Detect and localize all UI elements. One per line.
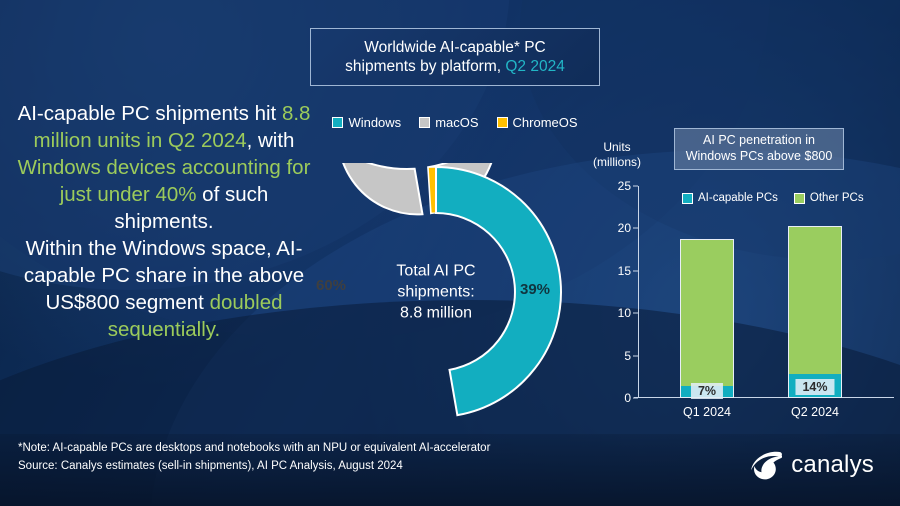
bar-chart-header-line1: AI PC penetration in: [703, 133, 815, 147]
legend-swatch-macos-icon: [419, 117, 430, 128]
y-tick-label-10: 10: [618, 306, 631, 320]
y-tick-mark-5: [633, 355, 638, 356]
chart-title-line2: shipments by platform,: [345, 58, 505, 75]
bar-chart-panel: AI PC penetration in Windows PCs above $…: [586, 128, 896, 428]
slide-canvas: Worldwide AI-capable* PC shipments by pl…: [0, 0, 900, 506]
chart-title-line1: Worldwide AI-capable* PC: [364, 39, 546, 56]
bar-q2-segment-other: [789, 227, 841, 374]
y-tick-mark-10: [633, 313, 638, 314]
y-axis-title-line1: Units: [586, 140, 648, 155]
narrative-p1-c: , with: [247, 129, 295, 152]
y-tick-label-15: 15: [618, 264, 631, 278]
chart-title-period: Q2 2024: [505, 58, 564, 75]
donut-center-line1: Total AI PC: [361, 260, 511, 281]
donut-legend: Windows macOS ChromeOS: [322, 115, 588, 130]
y-tick-label-20: 20: [618, 221, 631, 235]
bar-q2-2024[interactable]: 14% Q2 2024: [788, 226, 842, 398]
y-tick-label-25: 25: [618, 179, 631, 193]
canalys-logo: canalys: [748, 450, 874, 480]
x-category-label-q1: Q1 2024: [683, 405, 731, 419]
bar-chart-header-box: AI PC penetration in Windows PCs above $…: [674, 128, 844, 170]
narrative-p1-b: hit: [255, 102, 282, 125]
donut-legend-item-windows: Windows: [332, 115, 401, 130]
bar-chart-plot-area: 25 20 15 10 5 0 7% Q1 2024 14%: [638, 186, 886, 398]
donut-value-windows: 39%: [520, 281, 550, 298]
x-axis-line: [634, 397, 894, 398]
narrative-paragraph-2: Within the Windows space, AI-capable PC …: [14, 235, 314, 343]
narrative-p1-a: AI-capable PC shipments: [18, 102, 249, 125]
y-tick-mark-25: [633, 186, 638, 187]
bar-q1-data-label: 7%: [691, 383, 723, 399]
narrative-text: AI-capable PC shipments hit 8.8 million …: [14, 100, 314, 343]
donut-legend-label-chromeos: ChromeOS: [513, 115, 578, 130]
canalys-logo-text: canalys: [791, 451, 874, 479]
donut-legend-label-macos: macOS: [435, 115, 478, 130]
bar-q2-data-label: 14%: [795, 379, 834, 395]
y-axis-title-line2: (millions): [586, 155, 648, 170]
donut-center-line2: shipments:: [361, 281, 511, 302]
bar-q1-2024[interactable]: 7% Q1 2024: [680, 239, 734, 398]
y-tick-mark-15: [633, 270, 638, 271]
bar-q1-segment-other: [681, 240, 733, 386]
donut-legend-item-chromeos: ChromeOS: [497, 115, 578, 130]
donut-legend-item-macos: macOS: [419, 115, 478, 130]
bar-chart-header-line2: Windows PCs above $800: [686, 149, 833, 163]
chart-title-box: Worldwide AI-capable* PC shipments by pl…: [310, 28, 600, 86]
donut-center-label: Total AI PC shipments: 8.8 million: [361, 260, 511, 323]
footnote-block: *Note: AI-capable PCs are desktops and n…: [18, 440, 490, 476]
donut-center-line3: 8.8 million: [361, 303, 511, 324]
y-axis-title: Units (millions): [586, 140, 648, 169]
legend-swatch-chromeos-icon: [497, 117, 508, 128]
donut-value-macos: 60%: [316, 277, 346, 294]
y-axis-line: [638, 186, 639, 398]
footnote-source: Source: Canalys estimates (sell-in shipm…: [18, 458, 490, 476]
y-tick-mark-0: [633, 398, 638, 399]
canalys-mark-icon: [748, 450, 782, 480]
narrative-paragraph-1: AI-capable PC shipments hit 8.8 million …: [14, 100, 314, 235]
y-tick-label-0: 0: [624, 391, 631, 405]
footnote-note: *Note: AI-capable PCs are desktops and n…: [18, 440, 490, 458]
y-tick-label-5: 5: [624, 349, 631, 363]
donut-legend-label-windows: Windows: [348, 115, 401, 130]
x-category-label-q2: Q2 2024: [791, 405, 839, 419]
y-tick-mark-20: [633, 228, 638, 229]
legend-swatch-windows-icon: [332, 117, 343, 128]
